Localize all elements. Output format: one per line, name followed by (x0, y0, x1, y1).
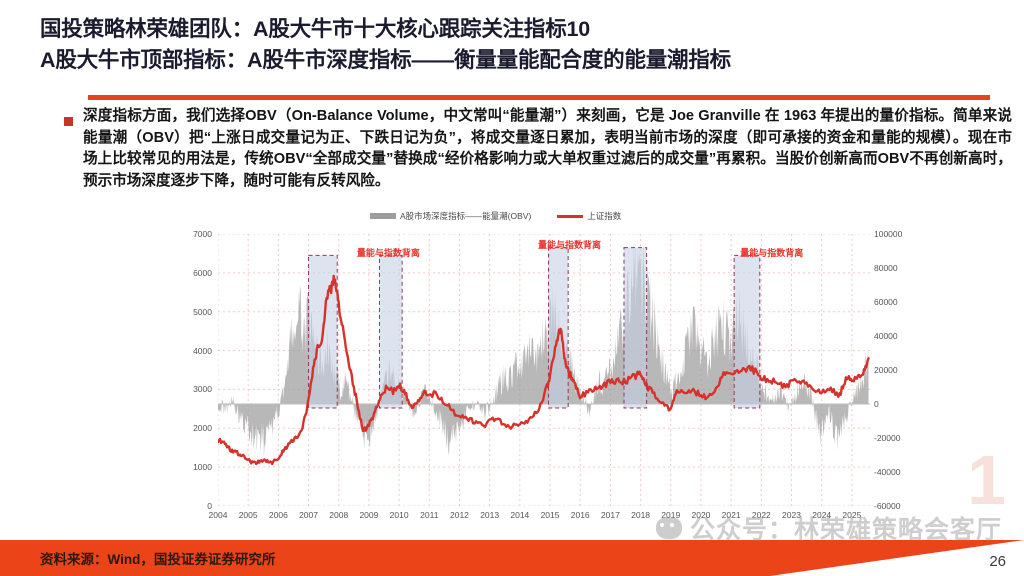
x-axis-tick: 2004 (201, 510, 235, 520)
x-axis-tick: 2023 (775, 510, 809, 520)
chart-annotation-label: 量能与指数背离 (538, 238, 601, 251)
y-axis-left-tick: 2000 (170, 423, 212, 433)
y-axis-right-tick: 80000 (874, 263, 926, 273)
y-axis-right-tick: 0 (874, 399, 926, 409)
x-axis-tick: 2011 (412, 510, 446, 520)
page-number: 26 (989, 553, 1006, 570)
y-axis-left-tick: 6000 (170, 268, 212, 278)
x-axis-tick: 2009 (352, 510, 386, 520)
x-axis-tick: 2024 (805, 510, 839, 520)
legend-item-index: 上证指数 (557, 210, 621, 222)
legend-swatch-line-icon (557, 215, 583, 218)
x-axis-tick: 2007 (292, 510, 326, 520)
y-axis-left-tick: 5000 (170, 307, 212, 317)
x-axis-tick: 2006 (261, 510, 295, 520)
x-axis-tick: 2017 (593, 510, 627, 520)
y-axis-right-tick: -40000 (874, 467, 926, 477)
x-axis-tick: 2014 (503, 510, 537, 520)
y-axis-right-tick: 20000 (874, 365, 926, 375)
chart-annotation-label: 量能与指数背离 (357, 246, 420, 259)
x-axis-tick: 2012 (442, 510, 476, 520)
x-axis-tick: 2019 (654, 510, 688, 520)
chart-annotation-label: 量能与指数背离 (740, 246, 803, 259)
source-label: 资料来源：Wind，国投证券证券研究所 (40, 548, 275, 568)
bullet-square-icon (64, 117, 73, 126)
legend-swatch-fill-icon (370, 213, 396, 219)
x-axis-tick: 2005 (231, 510, 265, 520)
y-axis-left-tick: 7000 (170, 229, 212, 239)
x-axis-tick: 2025 (835, 510, 869, 520)
y-axis-left-tick: 1000 (170, 462, 212, 472)
x-axis-tick: 2020 (684, 510, 718, 520)
y-axis-right-tick: 100000 (874, 229, 926, 239)
x-axis-tick: 2015 (533, 510, 567, 520)
chart-legend: A股市场深度指标——能量潮(OBV) 上证指数 (370, 210, 621, 222)
title-line-2: A股大牛市顶部指标：A股牛市深度指标——衡量量能配合度的能量潮指标 (40, 45, 1024, 76)
body-text: 深度指标方面，我们选择OBV（On-Balance Volume，中文常叫“能量… (83, 106, 1012, 192)
x-axis-tick: 2013 (473, 510, 507, 520)
y-axis-right-tick: -60000 (874, 501, 926, 511)
body-paragraph: 深度指标方面，我们选择OBV（On-Balance Volume，中文常叫“能量… (64, 106, 1012, 192)
legend-item-obv: A股市场深度指标——能量潮(OBV) (370, 210, 531, 222)
title-divider (88, 95, 990, 100)
x-axis-tick: 2021 (714, 510, 748, 520)
x-axis-tick: 2018 (624, 510, 658, 520)
x-axis-tick: 2016 (563, 510, 597, 520)
x-axis-tick: 2022 (744, 510, 778, 520)
ghost-digit: 1 (967, 440, 1006, 520)
y-axis-right-tick: -20000 (874, 433, 926, 443)
legend-label-obv: A股市场深度指标——能量潮(OBV) (400, 210, 531, 222)
y-axis-left-tick: 3000 (170, 384, 212, 394)
chart-plot-area (218, 234, 870, 506)
y-axis-right-tick: 60000 (874, 297, 926, 307)
chart-svg (218, 234, 870, 506)
obv-chart: A股市场深度指标——能量潮(OBV) 上证指数 0100020003000400… (170, 208, 930, 538)
x-axis-tick: 2008 (322, 510, 356, 520)
y-axis-right-tick: 40000 (874, 331, 926, 341)
title-line-1: 国投策略林荣雄团队：A股大牛市十大核心跟踪关注指标10 (40, 14, 1024, 45)
slide-root: 国投策略林荣雄团队：A股大牛市十大核心跟踪关注指标10 A股大牛市顶部指标：A股… (0, 0, 1024, 576)
x-axis-tick: 2010 (382, 510, 416, 520)
y-axis-left-tick: 4000 (170, 346, 212, 356)
legend-label-index: 上证指数 (587, 210, 621, 222)
page-title: 国投策略林荣雄团队：A股大牛市十大核心跟踪关注指标10 A股大牛市顶部指标：A股… (40, 14, 1024, 76)
